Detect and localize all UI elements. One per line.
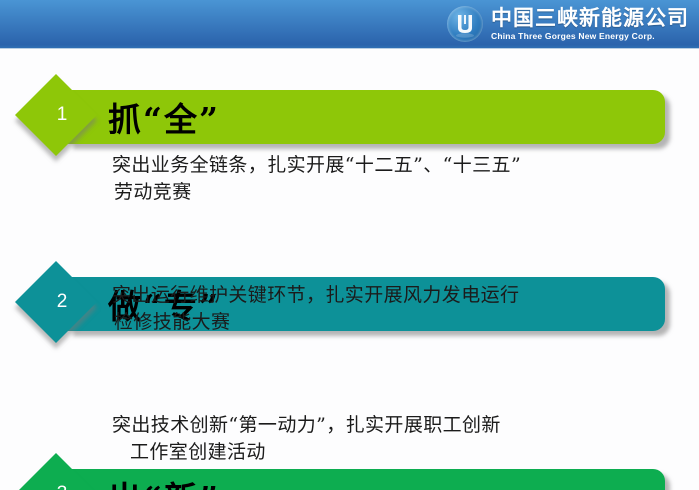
brand-name-cn: 中国三峡新能源公司	[491, 8, 689, 29]
brand-name-en: China Three Gorges New Energy Corp.	[491, 32, 689, 41]
content-block-3: 3 出“新”	[0, 465, 699, 490]
body-text-3: 突出技术创新“第一动力”，扎实开展职工创新 工作室创建活动	[112, 412, 687, 466]
body-text-1: 突出业务全链条，扎实开展“十二五”、“十三五” 劳动竞赛	[112, 152, 687, 206]
body-line-2-2: 检修技能大赛	[112, 309, 687, 336]
body-line-3-2: 工作室创建活动	[112, 439, 687, 466]
header-bar: 中国三峡新能源公司 China Three Gorges New Energy …	[0, 0, 699, 48]
body-line-1-2: 劳动竞赛	[112, 179, 687, 206]
three-gorges-dam-logo-icon	[447, 6, 483, 42]
content-block-1: 1 抓“全”	[0, 86, 699, 148]
brand-text: 中国三峡新能源公司 China Three Gorges New Energy …	[491, 8, 689, 41]
banner-title-3: 出“新”	[108, 469, 220, 490]
slide-canvas: 中国三峡新能源公司 China Three Gorges New Energy …	[0, 0, 699, 490]
body-line-2-1: 突出运行维护关键环节，扎实开展风力发电运行	[112, 282, 687, 309]
brand-lockup: 中国三峡新能源公司 China Three Gorges New Energy …	[447, 2, 689, 46]
banner-title-1: 抓“全”	[108, 90, 220, 144]
body-line-1-1: 突出业务全链条，扎实开展“十二五”、“十三五”	[112, 152, 687, 179]
body-line-3-1: 突出技术创新“第一动力”，扎实开展职工创新	[112, 412, 687, 439]
body-text-2: 突出运行维护关键环节，扎实开展风力发电运行 检修技能大赛	[112, 282, 687, 336]
